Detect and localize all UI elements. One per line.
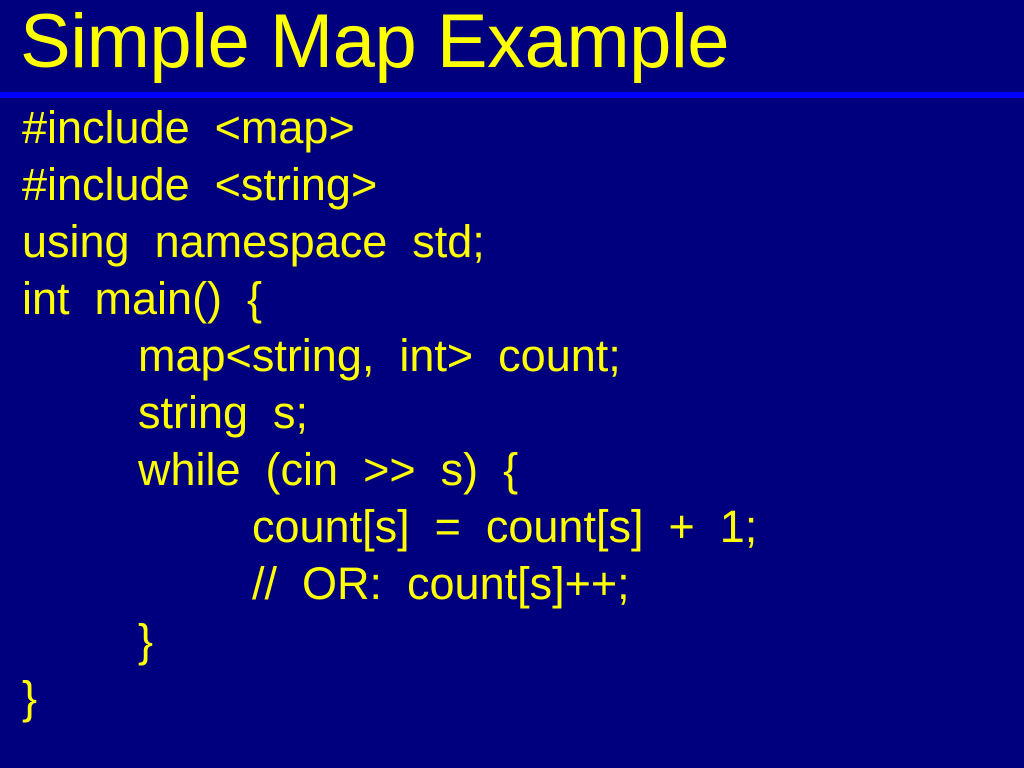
code-line: // OR: count[s]++; xyxy=(0,555,1024,612)
presentation-slide: Simple Map Example #include <map>#includ… xyxy=(0,0,1024,768)
code-line: count[s] = count[s] + 1; xyxy=(0,498,1024,555)
code-line: using namespace std; xyxy=(0,213,1024,270)
slide-title-area: Simple Map Example xyxy=(0,0,1024,92)
code-line: } xyxy=(0,669,1024,726)
code-line: map<string, int> count; xyxy=(0,327,1024,384)
code-line-text: // OR: count[s]++; xyxy=(252,555,630,612)
code-line-text: int main() { xyxy=(22,270,262,327)
code-line: while (cin >> s) { xyxy=(0,441,1024,498)
code-line: int main() { xyxy=(0,270,1024,327)
code-line-text: map<string, int> count; xyxy=(138,327,621,384)
code-line: } xyxy=(0,612,1024,669)
code-line-text: while (cin >> s) { xyxy=(138,441,518,498)
page-title: Simple Map Example xyxy=(20,0,729,88)
code-line: string s; xyxy=(0,384,1024,441)
code-line-text: #include <string> xyxy=(22,156,377,213)
code-line-text: string s; xyxy=(138,384,308,441)
title-divider-rule xyxy=(0,92,1024,98)
code-line-text: } xyxy=(22,669,37,726)
code-line-text: #include <map> xyxy=(22,99,355,156)
code-block: #include <map>#include <string>using nam… xyxy=(0,99,1024,768)
code-line-text: count[s] = count[s] + 1; xyxy=(252,498,757,555)
code-line-text: } xyxy=(138,612,153,669)
code-line: #include <string> xyxy=(0,156,1024,213)
code-line-text: using namespace std; xyxy=(22,213,485,270)
code-line: #include <map> xyxy=(0,99,1024,156)
